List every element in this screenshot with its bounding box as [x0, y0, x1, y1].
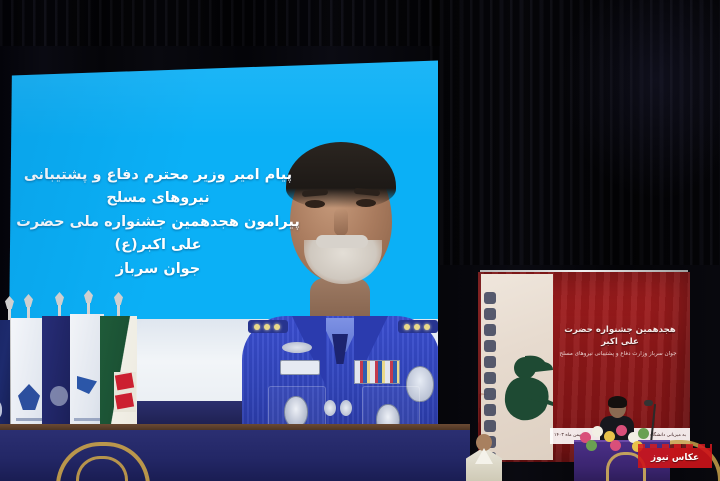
- sponsor-logo: [484, 388, 496, 400]
- watermark-text: عکاس نیوز: [651, 453, 699, 463]
- sponsor-logo: [484, 324, 496, 336]
- officer-name-plate: [280, 360, 320, 375]
- sponsor-logo: [484, 308, 496, 320]
- banner-artwork-panel: [481, 274, 553, 460]
- officer-pin-1: [324, 400, 336, 416]
- source-watermark: عکاس نیوز: [638, 448, 712, 468]
- attendee-in-light-robe: [466, 434, 502, 481]
- microphone-icon: [644, 400, 653, 406]
- sponsor-logo: [484, 404, 496, 416]
- officer-nose: [334, 208, 348, 236]
- hall-ambient-glow: [560, 0, 720, 200]
- officer-epaulette-right: [398, 320, 438, 333]
- officer-wing-badge: [282, 342, 312, 353]
- speaker-hair: [608, 396, 627, 408]
- officer-eye-right: [356, 199, 376, 207]
- officer-pin-2: [340, 400, 352, 416]
- banner-title: هجدهمین جشنواره حضرت علی اکبر: [556, 324, 684, 349]
- banner-subtitle: جوان سرباز وزارت دفاع و پشتیبانی نیروهای…: [552, 350, 684, 358]
- sponsor-logo: [484, 292, 496, 304]
- headline-line-2: پیرامون هجدهمین جشنواره ملی حضرت علی اکب…: [12, 211, 304, 258]
- stage-curtain-top: [0, 0, 440, 46]
- sponsor-logo: [484, 340, 496, 352]
- officer-epaulette-left: [248, 320, 288, 333]
- sponsor-logo: [484, 356, 496, 368]
- screen-headline: پیام امیر وزیر محترم دفاع و پشتیبانی نیر…: [12, 164, 304, 281]
- screenshot-root: پیام امیر وزیر محترم دفاع و پشتیبانی نیر…: [0, 0, 720, 481]
- headline-line-1: پیام امیر وزیر محترم دفاع و پشتیبانی نیر…: [12, 164, 304, 211]
- soldier-silhouette-icon: [495, 352, 553, 432]
- sponsor-logo: [484, 372, 496, 384]
- officer-ribbon-bar: [354, 360, 400, 384]
- officer-eye-left: [305, 200, 325, 208]
- headline-line-3: جوان سرباز: [12, 258, 304, 281]
- sponsor-logo: [484, 420, 496, 432]
- officer-moustache: [316, 235, 368, 248]
